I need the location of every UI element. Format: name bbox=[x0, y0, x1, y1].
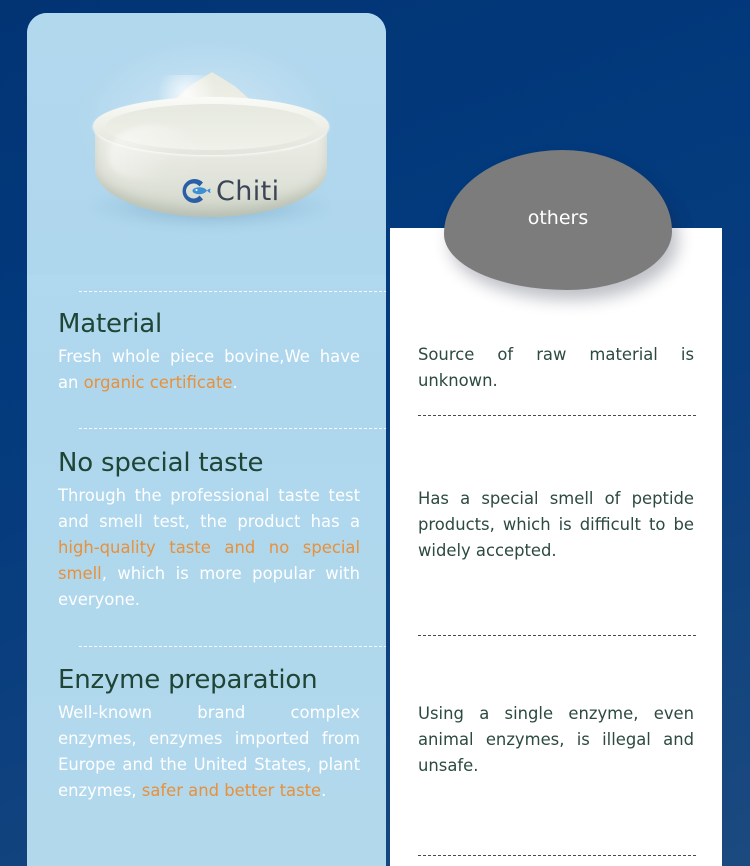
right-divider-2 bbox=[418, 635, 696, 636]
left-section-body: Through the professional taste test and … bbox=[58, 483, 360, 613]
right-section-body: Using a single enzyme, even animal enzym… bbox=[418, 701, 694, 779]
others-label: others bbox=[444, 150, 672, 290]
body-text-plain: . bbox=[321, 781, 326, 800]
left-section-no-special-taste: No special taste Through the professiona… bbox=[58, 449, 360, 613]
left-section-material: Material Fresh whole piece bovine,We hav… bbox=[58, 310, 360, 396]
right-section-body: Source of raw material is unknown. bbox=[418, 342, 694, 394]
left-section-body: Well-known brand complex enzymes, enzyme… bbox=[58, 700, 360, 804]
body-text-highlight: organic certificate bbox=[84, 373, 233, 392]
left-section-heading: No special taste bbox=[58, 449, 360, 477]
left-divider-2 bbox=[79, 428, 386, 429]
left-section-body: Fresh whole piece bovine,We have an orga… bbox=[58, 344, 360, 396]
left-divider-3 bbox=[79, 646, 386, 647]
right-section-body: Has a special smell of peptide products,… bbox=[418, 486, 694, 564]
product-photo: Chiti bbox=[27, 13, 386, 275]
right-section-taste: Has a special smell of peptide products,… bbox=[418, 486, 694, 564]
right-divider-3 bbox=[418, 855, 696, 856]
body-text-plain: Through the professional taste test and … bbox=[58, 486, 360, 531]
left-section-heading: Material bbox=[58, 310, 360, 338]
left-divider-1 bbox=[79, 291, 386, 292]
body-text-highlight: safer and better taste bbox=[142, 781, 321, 800]
right-divider-1 bbox=[418, 415, 696, 416]
others-panel: Source of raw material is unknown. Has a… bbox=[390, 228, 722, 866]
chiti-logo: Chiti bbox=[179, 175, 280, 207]
logo-wordmark: Chiti bbox=[216, 178, 280, 205]
body-text-plain: . bbox=[232, 373, 237, 392]
right-section-enzyme: Using a single enzyme, even animal enzym… bbox=[418, 701, 694, 779]
chiti-fish-c-logo-icon bbox=[179, 175, 211, 207]
dish-gloss bbox=[109, 125, 201, 181]
right-section-material: Source of raw material is unknown. bbox=[418, 342, 694, 394]
comparison-infographic: Chiti Material Fresh whole piece bovine,… bbox=[0, 0, 750, 866]
left-section-heading: Enzyme preparation bbox=[58, 666, 360, 694]
left-section-enzyme-preparation: Enzyme preparation Well-known brand comp… bbox=[58, 666, 360, 804]
chiti-panel: Chiti Material Fresh whole piece bovine,… bbox=[27, 13, 386, 866]
others-shape: others bbox=[444, 150, 672, 290]
body-text-plain: , which is more popular with everyone. bbox=[58, 564, 360, 609]
